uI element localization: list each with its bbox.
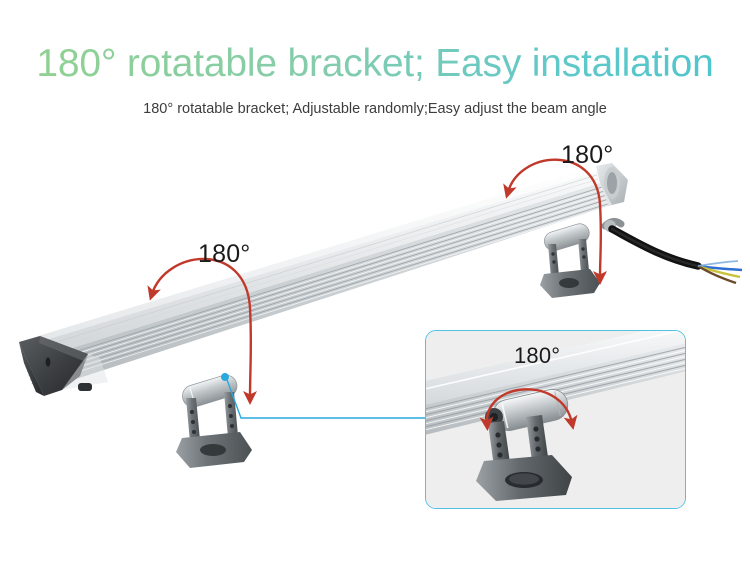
callout-leader-line bbox=[221, 373, 427, 418]
angle-label-inset: 180° bbox=[514, 343, 560, 369]
angle-label-left: 180° bbox=[198, 240, 251, 269]
power-cable bbox=[604, 220, 742, 283]
mounting-bracket-left bbox=[176, 372, 252, 468]
page-subtitle: 180° rotatable bracket; Adjustable rando… bbox=[0, 101, 750, 117]
header: 180° rotatable bracket; Easy installatio… bbox=[0, 0, 750, 117]
product-feature-slide: 180° rotatable bracket; Easy installatio… bbox=[0, 0, 750, 580]
angle-label-right: 180° bbox=[561, 141, 614, 170]
cable-gland-nub bbox=[78, 383, 92, 391]
mounting-bracket-right bbox=[540, 221, 600, 298]
page-title: 180° rotatable bracket; Easy installatio… bbox=[0, 44, 750, 85]
callout-anchor-dot-icon bbox=[221, 373, 229, 381]
